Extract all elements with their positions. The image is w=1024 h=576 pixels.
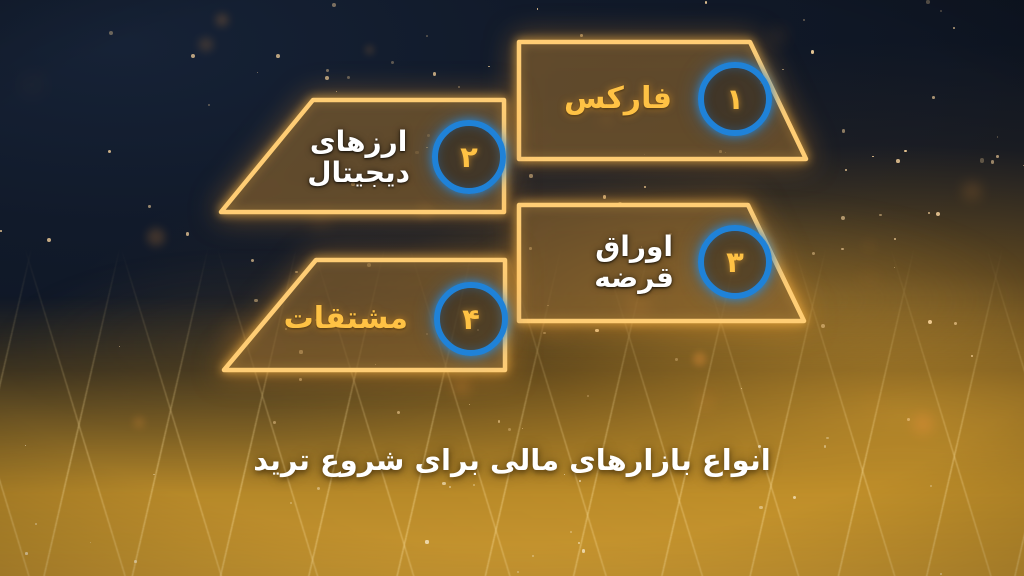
item-2-label: ارزهای دیجیتال — [307, 126, 410, 189]
item-1-number: ۱ — [726, 85, 744, 114]
item-4-content: ۴ مشتقات — [298, 288, 508, 350]
item-1-content: ۱ فارکس — [532, 68, 772, 130]
item-3-badge: ۳ — [698, 225, 772, 299]
trapezoid-group: ۱ فارکس ۲ ارزهای دیجیتال ۳ اوراق — [0, 0, 1024, 576]
item-1-label: فارکس — [564, 82, 672, 116]
infographic-slide: ۱ فارکس ۲ ارزهای دیجیتال ۳ اوراق — [0, 0, 1024, 576]
item-4-badge: ۴ — [434, 282, 508, 356]
item-4-number: ۴ — [462, 305, 480, 334]
item-2-number: ۲ — [460, 143, 478, 172]
item-3-label: اوراق قرضه — [594, 231, 674, 294]
slide-caption: انواع بازارهای مالی برای شروع ترید — [0, 443, 1024, 477]
item-3-number: ۳ — [726, 248, 744, 277]
item-1-badge: ۱ — [698, 62, 772, 136]
item-2-content: ۲ ارزهای دیجیتال — [296, 126, 506, 188]
item-2-badge: ۲ — [432, 120, 506, 194]
item-4-label: مشتقات — [284, 302, 408, 336]
item-3-content: ۳ اوراق قرضه — [532, 231, 772, 293]
